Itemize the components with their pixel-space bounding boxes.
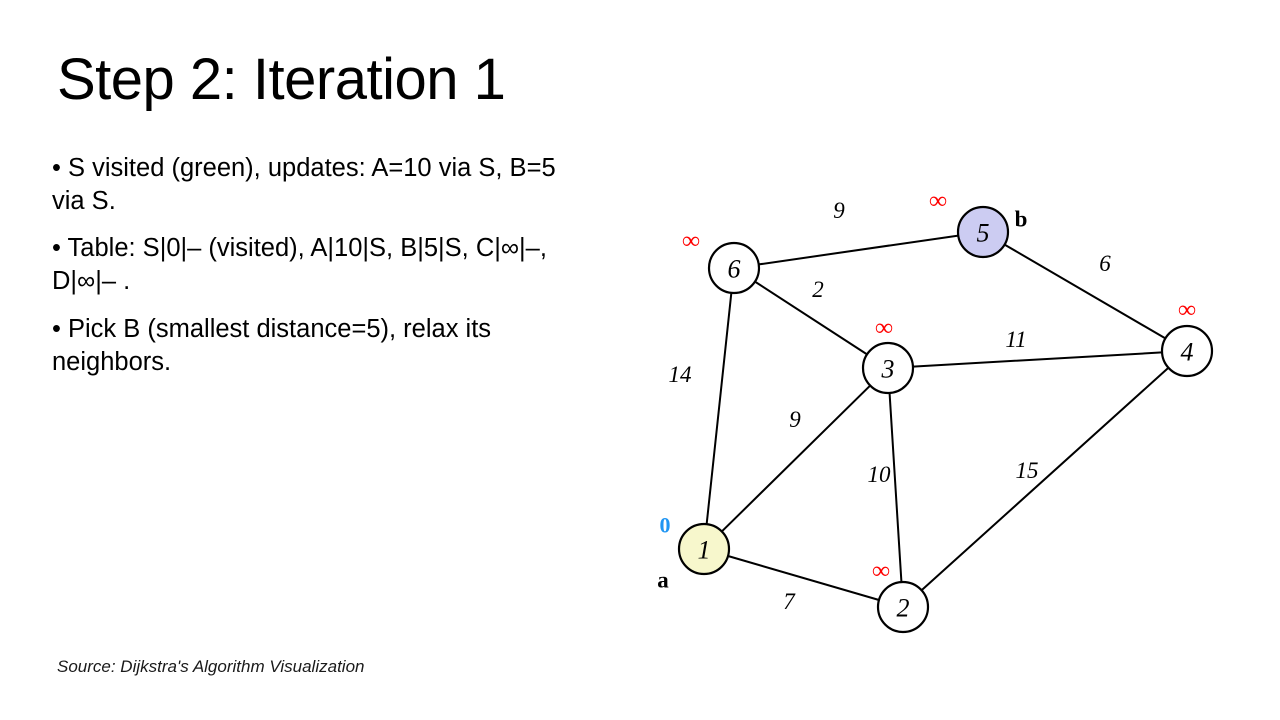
graph-node-1[interactable]: 10a: [657, 513, 729, 593]
node-tag-1: a: [657, 568, 669, 593]
node-tag-5: b: [1015, 207, 1028, 232]
node-distance-4: ∞: [1178, 297, 1196, 324]
node-label-4: 4: [1181, 338, 1194, 367]
bullet-item-2: • Table: S|0|– (visited), A|10|S, B|5|S,…: [52, 232, 572, 298]
edge-weight-3-2: 10: [868, 462, 892, 487]
graph-node-6[interactable]: 6∞: [682, 228, 759, 294]
graph-node-4[interactable]: 4∞: [1162, 297, 1212, 377]
edge-weight-6-5: 9: [833, 198, 845, 223]
edge-weight-1-2: 7: [783, 589, 796, 614]
dijkstra-graph: 9621491110157 10a2∞3∞4∞5∞b6∞: [630, 175, 1240, 650]
slide-canvas: Step 2: Iteration 1 • S visited (green),…: [0, 0, 1280, 720]
edge-weight-5-4: 6: [1099, 251, 1111, 276]
graph-edge-5-4: [1005, 245, 1166, 339]
node-distance-2: ∞: [872, 558, 890, 585]
graph-edge-6-5: [759, 236, 959, 265]
node-label-5: 5: [977, 219, 990, 248]
node-distance-3: ∞: [875, 315, 893, 342]
page-title: Step 2: Iteration 1: [57, 48, 677, 113]
bullet-item-1: • S visited (green), updates: A=10 via S…: [52, 152, 572, 218]
graph-node-3[interactable]: 3∞: [863, 315, 913, 394]
graph-edge-6-3: [755, 282, 867, 355]
edge-weight-6-1: 14: [669, 362, 692, 387]
node-group: 10a2∞3∞4∞5∞b6∞: [657, 188, 1212, 633]
edge-weight-3-4: 11: [1005, 327, 1026, 352]
bullet-item-3: • Pick B (smallest distance=5), relax it…: [52, 313, 572, 379]
node-label-6: 6: [728, 255, 741, 284]
node-label-3: 3: [881, 355, 895, 384]
source-caption: Source: Dijkstra's Algorithm Visualizati…: [57, 657, 364, 677]
graph-figure: 9621491110157 10a2∞3∞4∞5∞b6∞: [630, 175, 1240, 650]
bullet-list: • S visited (green), updates: A=10 via S…: [52, 152, 572, 393]
node-label-1: 1: [698, 536, 711, 565]
graph-edge-3-4: [913, 352, 1162, 366]
edge-line-group: [707, 236, 1169, 600]
edge-weight-6-3: 2: [812, 277, 824, 302]
graph-edge-6-1: [707, 293, 732, 524]
edge-weight-1-3: 9: [789, 407, 801, 432]
node-distance-5: ∞: [929, 188, 947, 215]
node-label-2: 2: [897, 594, 910, 623]
graph-edge-3-2: [890, 393, 902, 582]
node-distance-6: ∞: [682, 228, 700, 255]
node-distance-1: 0: [660, 513, 671, 538]
edge-weight-2-4: 15: [1016, 458, 1039, 483]
graph-edge-1-2: [728, 556, 879, 600]
graph-edge-2-4: [922, 368, 1169, 591]
graph-node-5[interactable]: 5∞b: [929, 188, 1027, 258]
